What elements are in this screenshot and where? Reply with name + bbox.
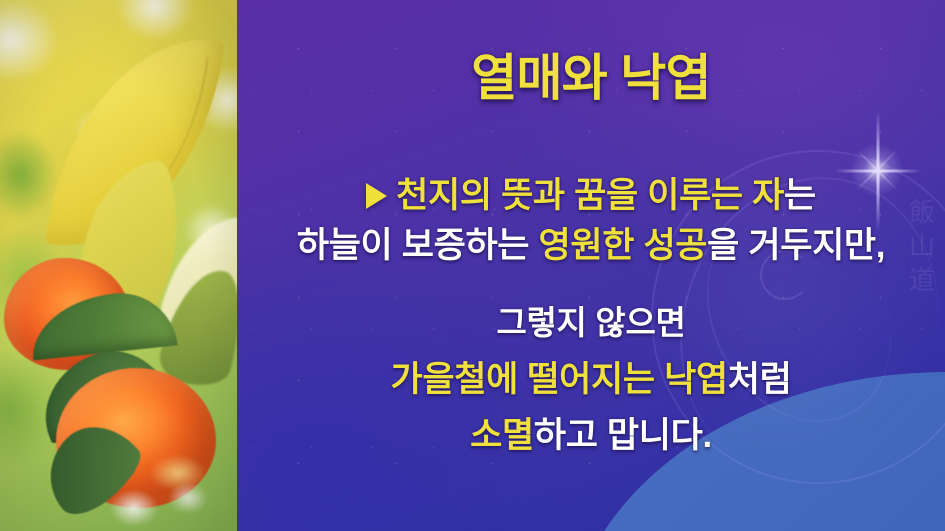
slide-title-text: 열매와 낙엽: [471, 50, 710, 106]
body-line-3-plain: 그렇지 않으면: [496, 304, 685, 341]
body-line-2-accent: 영원한 성공: [539, 226, 708, 265]
body-line-2-plain-b: 을 거두지만,: [707, 226, 885, 265]
body-line-1-plain: 는: [784, 176, 816, 215]
slide-root: 飯山道 열매와 낙엽 천지의 뜻과 꿈을 이루는 자는 하늘이 보증하는 영원한…: [0, 0, 945, 531]
body-line-1-accent: 천지의 뜻과 꿈을 이루는 자: [396, 176, 784, 215]
persimmon-photo-panel: [0, 0, 237, 531]
text-stack: 열매와 낙엽 천지의 뜻과 꿈을 이루는 자는 하늘이 보증하는 영원한 성공을…: [237, 0, 945, 531]
body-line-3: 그렇지 않으면: [237, 302, 945, 344]
triangle-bullet-icon: [366, 183, 387, 209]
body-line-5-plain: 하고 맙니다.: [534, 416, 712, 455]
body-line-4-plain: 처럼: [728, 360, 792, 399]
body-line-2-plain-a: 하늘이 보증하는: [297, 226, 539, 265]
body-line-5: 소멸하고 맙니다.: [237, 414, 945, 458]
body-line-5-accent: 소멸: [470, 416, 534, 455]
content-panel: 飯山道 열매와 낙엽 천지의 뜻과 꿈을 이루는 자는 하늘이 보증하는 영원한…: [237, 0, 945, 531]
body-line-1: 천지의 뜻과 꿈을 이루는 자는: [237, 174, 945, 218]
photo-vignette: [0, 0, 237, 531]
body-line-4-accent: 가을철에 떨어지는 낙엽: [391, 360, 728, 399]
slide-title: 열매와 낙엽: [237, 48, 945, 108]
body-line-2: 하늘이 보증하는 영원한 성공을 거두지만,: [237, 224, 945, 268]
body-line-4: 가을철에 떨어지는 낙엽처럼: [237, 358, 945, 402]
